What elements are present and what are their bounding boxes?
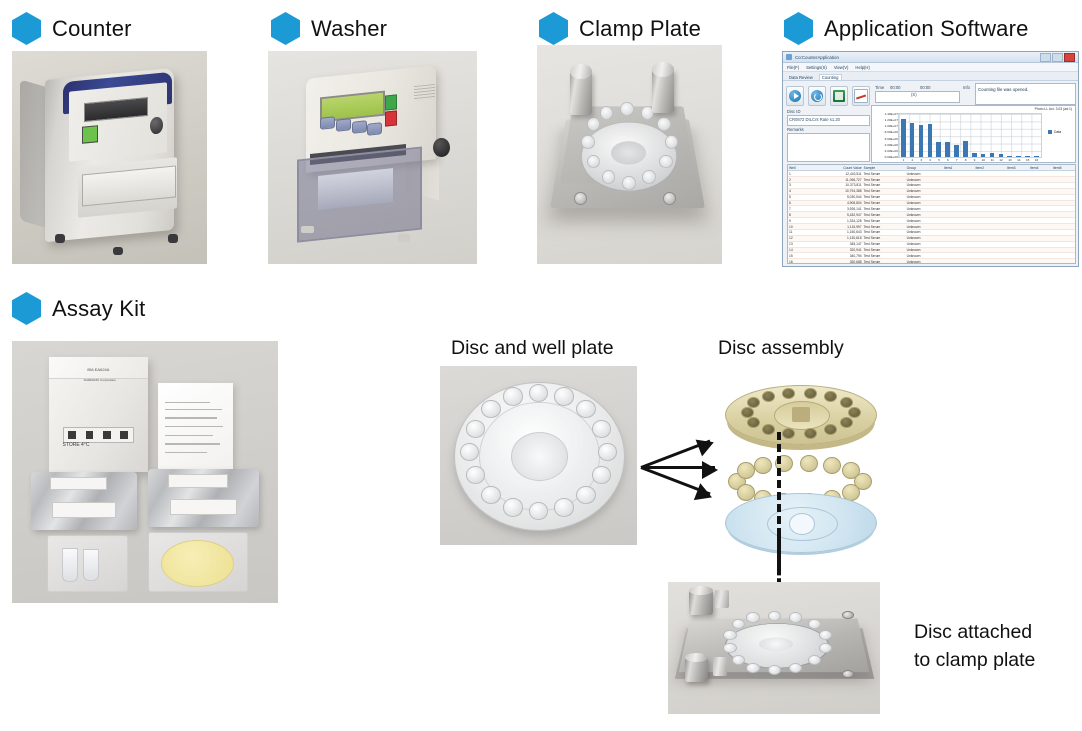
table-cell	[975, 189, 1007, 194]
table-cell	[943, 195, 975, 200]
table-cell: Test Serum	[863, 236, 906, 241]
table-cell	[943, 253, 975, 258]
well	[732, 655, 745, 665]
chart-bar	[910, 123, 915, 157]
remarks-input[interactable]	[787, 133, 870, 162]
table-cell	[1052, 253, 1075, 258]
table-cell: 14	[788, 248, 814, 253]
glass-icon	[86, 431, 94, 439]
well	[746, 663, 759, 673]
counter-photo	[12, 51, 207, 264]
table-cell: Unknown	[906, 230, 943, 235]
column-header[interactable]: Count Value	[814, 165, 863, 170]
table-cell: 340,794	[814, 253, 863, 258]
assembly-well-cell	[737, 484, 755, 501]
chart-bar	[901, 119, 906, 157]
table-cell: Unknown	[906, 212, 943, 217]
chart-y-tick: 1.20E+07	[885, 118, 898, 122]
chart-bar	[981, 154, 986, 157]
clamp-plate-well	[602, 170, 615, 184]
table-cell: Test Serum	[863, 195, 906, 200]
washer-keypad-button[interactable]	[352, 121, 367, 134]
clamp-plate-knob[interactable]	[689, 590, 712, 615]
kit-sample-tube	[83, 549, 99, 581]
chart-bar	[936, 142, 941, 157]
play-icon	[789, 90, 801, 102]
table-cell	[1052, 201, 1075, 206]
assembly-well-dot	[804, 388, 817, 399]
counting-chart: Photo LL Act. 3.03 (ad:1) 12345678910111…	[871, 105, 1076, 163]
caption-disc-attached-line2: to clamp plate	[914, 648, 1035, 672]
table-cell	[1052, 242, 1075, 247]
chart-x-tick: 8	[965, 158, 967, 162]
chart-bar	[919, 125, 924, 157]
assembly-well-dot	[782, 388, 795, 399]
table-cell	[975, 259, 1007, 264]
kit-tube-bag	[47, 535, 129, 592]
table-cell: 7	[788, 206, 814, 211]
counter-foot	[113, 247, 123, 256]
table-cell	[943, 177, 975, 182]
table-cell: 2	[788, 177, 814, 182]
table-cell: 1,130,618	[814, 236, 863, 241]
clamp-plate-photo	[537, 45, 722, 264]
chart-x-tick: 16	[1035, 158, 1038, 162]
table-cell	[1052, 248, 1075, 253]
well	[554, 498, 574, 516]
chart-x-tick: 13	[1008, 158, 1011, 162]
table-cell	[1052, 218, 1075, 223]
chart-y-tick: 1.00E+07	[885, 124, 898, 128]
app-icon	[786, 54, 792, 60]
time-value: 00:00	[890, 85, 900, 90]
table-cell	[1006, 177, 1029, 182]
chart-x-tick: 10	[982, 158, 985, 162]
well	[576, 486, 596, 504]
chart-x-tick: 6	[947, 158, 949, 162]
table-cell: Test Serum	[863, 212, 906, 217]
maximize-icon[interactable]	[1052, 53, 1063, 62]
chart-x-tick: 9	[974, 158, 976, 162]
table-cell	[975, 195, 1007, 200]
table-cell	[975, 230, 1007, 235]
table-cell	[1052, 212, 1075, 217]
assembly-base-disc	[725, 493, 877, 553]
table-cell: 5,182,947	[814, 212, 863, 217]
table-cell: 3,926,141	[814, 206, 863, 211]
table-cell: 10,794,388	[814, 189, 863, 194]
table-cell	[1006, 230, 1029, 235]
chart-x-tick: 14	[1017, 158, 1020, 162]
table-cell: 15	[788, 253, 814, 258]
application-software-window[interactable]: CcrCounterApplication File(F) Settings(S…	[782, 51, 1079, 267]
chart-bar	[990, 153, 995, 157]
app-toolbar[interactable]	[786, 83, 870, 109]
close-icon[interactable]	[1064, 53, 1075, 62]
table-cell: Unknown	[906, 242, 943, 247]
well	[481, 486, 501, 504]
assembly-well-dot	[747, 397, 760, 408]
chart-bar	[945, 142, 950, 157]
washer-start-button[interactable]	[385, 94, 397, 110]
clamp-plate-post	[713, 657, 728, 675]
menu-item-view[interactable]: View(V)	[834, 65, 849, 70]
start-button[interactable]	[786, 86, 804, 106]
table-cell: 4,908,804	[814, 201, 863, 206]
legend-swatch	[1048, 130, 1052, 134]
count-unit-label: (S)	[911, 92, 917, 97]
column-header[interactable]: Well	[788, 165, 814, 170]
kit-disc-bag	[148, 532, 248, 592]
time-label: Time	[875, 85, 884, 90]
column-header[interactable]: Item1	[943, 165, 975, 170]
app-window-title: CcrCounterApplication	[795, 55, 839, 60]
well	[723, 643, 736, 653]
well	[789, 663, 802, 673]
table-cell	[943, 242, 975, 247]
clamp-plate-well	[659, 155, 672, 169]
clamp-plate-well	[622, 176, 635, 190]
table-cell	[1029, 189, 1052, 194]
table-cell: Test Serum	[863, 253, 906, 258]
table-cell: 320,941	[814, 248, 863, 253]
disc-and-well-plate-photo	[440, 366, 637, 545]
section-label-application-software: Application Software	[824, 16, 1029, 42]
table-cell	[1006, 171, 1029, 176]
table-cell: Unknown	[906, 201, 943, 206]
washer-side-dial[interactable]	[433, 138, 450, 157]
table-cell: 11	[788, 230, 814, 235]
table-cell	[943, 212, 975, 217]
chart-x-tick: 2	[911, 158, 913, 162]
washer-foot	[398, 234, 411, 241]
info-message-text: Counting file was opened.	[978, 87, 1029, 92]
table-cell: Unknown	[906, 218, 943, 223]
clamp-plate-hub	[610, 141, 646, 164]
kit-sample-tube	[62, 548, 78, 582]
table-cell	[1006, 224, 1029, 229]
assembly-well-cell	[800, 455, 818, 472]
section-label-washer: Washer	[311, 16, 387, 42]
up-arrow-icon	[120, 431, 128, 439]
chart-x-tick: 5	[938, 158, 940, 162]
washer-keypad-button[interactable]	[320, 116, 335, 129]
assay-kit-photo: BM-EA624A SHIMADZU Corporation STORE 4°C	[12, 341, 278, 603]
assembly-well-dot	[762, 391, 775, 402]
table-cell	[1029, 218, 1052, 223]
table-cell: 4	[788, 189, 814, 194]
clamp-plate-well	[665, 135, 678, 149]
assembly-well-dot	[840, 397, 853, 408]
table-cell	[1052, 224, 1075, 229]
table-cell	[975, 248, 1007, 253]
assembly-arrow-bottom	[640, 466, 710, 495]
window-controls[interactable]	[1040, 53, 1075, 62]
table-cell	[975, 201, 1007, 206]
table-cell: 345,147	[814, 242, 863, 247]
table-cell	[943, 201, 975, 206]
table-cell	[943, 259, 975, 264]
chart-button[interactable]	[852, 86, 870, 106]
chart-bar	[954, 145, 959, 157]
chart-y-tick: 6.00E+06	[885, 137, 898, 141]
table-cell	[975, 212, 1007, 217]
chart-x-tick: 3	[920, 158, 922, 162]
chart-bar	[999, 154, 1004, 157]
table-cell	[1029, 171, 1052, 176]
kit-instruction-sheet	[158, 383, 232, 469]
table-cell: Unknown	[906, 259, 943, 264]
clamp-plate-well	[642, 170, 655, 184]
tab-counting[interactable]: Counting	[819, 74, 842, 80]
results-table[interactable]: WellCount ValueSampleGroupItem1Item2Item…	[787, 164, 1076, 264]
table-cell	[1006, 201, 1029, 206]
remarks-label: Remarks	[787, 127, 804, 132]
washer-stop-button[interactable]	[385, 110, 397, 126]
table-cell: Unknown	[906, 253, 943, 258]
hexagon-bullet-icon	[271, 12, 300, 45]
table-cell	[1006, 259, 1029, 264]
table-cell: 1,150,643	[814, 230, 863, 235]
export-excel-button[interactable]	[830, 86, 848, 106]
info-label: Info	[963, 85, 970, 90]
table-cell	[943, 183, 975, 188]
table-cell	[943, 218, 975, 223]
page-root: Counter Washer Clamp Plate Application S…	[0, 0, 1082, 731]
section-header-counter: Counter	[12, 12, 132, 45]
column-header[interactable]: Item5	[1052, 165, 1075, 170]
table-cell: Unknown	[906, 224, 943, 229]
washer-keypad-button[interactable]	[336, 118, 351, 131]
table-cell	[943, 230, 975, 235]
table-cell	[943, 189, 975, 194]
table-cell	[1029, 259, 1052, 264]
kit-reagent-pouch	[31, 472, 137, 530]
table-cell	[1006, 236, 1029, 241]
section-header-assay-kit: Assay Kit	[12, 292, 146, 325]
table-cell	[1006, 183, 1029, 188]
assembly-well-cell	[823, 457, 841, 474]
hexagon-bullet-icon	[12, 292, 41, 325]
hexagon-bullet-icon	[12, 12, 41, 45]
assembly-arrow-top	[640, 440, 710, 469]
table-cell	[1052, 177, 1075, 182]
hexagon-bullet-icon	[784, 12, 813, 45]
assembly-well-dot	[747, 417, 760, 428]
menu-item-settings[interactable]: Settings(S)	[806, 65, 827, 70]
chart-bar	[972, 153, 977, 157]
table-cell: 8	[788, 212, 814, 217]
pouch-contents-label	[170, 499, 237, 515]
section-label-counter: Counter	[52, 16, 132, 42]
assembly-well-dot	[741, 407, 754, 418]
chart-corner-label: Photo LL Act. 3.03 (ad:1)	[1035, 107, 1072, 111]
chart-x-tick: 15	[1026, 158, 1029, 162]
table-cell: 10	[788, 224, 814, 229]
section-header-clamp-plate: Clamp Plate	[539, 12, 701, 45]
table-cell: 1,115,997	[814, 224, 863, 229]
count-time-input[interactable]	[875, 91, 960, 103]
table-cell: Test Serum	[863, 189, 906, 194]
clamp-plate-post	[715, 590, 730, 608]
well	[576, 400, 596, 418]
table-row[interactable]: 16330,688Test SerumUnknown	[788, 259, 1075, 264]
clamp-plate-knob[interactable]	[685, 657, 708, 682]
thermometer-icon	[103, 431, 111, 439]
table-cell	[1052, 189, 1075, 194]
kit-handling-icons	[63, 427, 134, 442]
disc-id-label: Disc ID	[787, 109, 801, 114]
table-cell: Test Serum	[863, 171, 906, 176]
table-cell	[1029, 230, 1052, 235]
tab-data-review[interactable]: Data Review	[787, 75, 815, 80]
table-cell: 5	[788, 195, 814, 200]
table-cell	[975, 253, 1007, 258]
kit-box-label: BM-EA624A	[65, 367, 132, 372]
table-cell: 3	[788, 183, 814, 188]
clamp-plate-well	[620, 102, 633, 116]
column-header[interactable]: Sample	[863, 165, 906, 170]
table-cell	[943, 206, 975, 211]
table-cell	[1029, 236, 1052, 241]
chart-bar	[963, 141, 968, 157]
column-header[interactable]: Group	[906, 165, 943, 170]
table-cell	[1006, 248, 1029, 253]
caption-disc-assembly: Disc assembly	[718, 336, 844, 360]
clamp-plate-well	[657, 117, 670, 131]
chart-y-tick: 2.00E+06	[885, 149, 898, 153]
section-header-application-software: Application Software	[784, 12, 1029, 45]
app-titlebar: CcrCounterApplication	[783, 52, 1078, 63]
table-cell: Unknown	[906, 177, 943, 182]
table-cell: Test Serum	[863, 230, 906, 235]
clamp-plate-knob[interactable]	[570, 71, 592, 115]
pouch-brand-label	[50, 477, 107, 491]
table-cell	[1029, 224, 1052, 229]
table-cell: 6	[788, 201, 814, 206]
chart-x-tick: 7	[956, 158, 958, 162]
well	[503, 387, 523, 405]
table-cell: Test Serum	[863, 224, 906, 229]
kit-yellow-disc	[161, 540, 234, 587]
clamp-plate-screw	[574, 192, 587, 205]
app-tabstrip[interactable]: Data Review Counting	[783, 72, 1078, 81]
chart-y-tick: 4.00E+06	[885, 143, 898, 147]
table-cell: 11,056,727	[814, 177, 863, 182]
well	[529, 384, 549, 402]
menu-item-help[interactable]: Help(H)	[855, 65, 869, 70]
kit-reagent-pouch	[148, 469, 260, 527]
chart-x-tick: 1	[903, 158, 905, 162]
table-cell	[1029, 206, 1052, 211]
umbrella-icon	[68, 431, 76, 439]
assembly-well-dot	[824, 424, 837, 435]
well-plate-hub	[511, 432, 568, 481]
legend-label: Data	[1054, 130, 1061, 134]
well	[819, 643, 832, 653]
table-cell	[943, 236, 975, 241]
disc-id-value: CR0872 DILCnt Rate s1.20	[789, 117, 840, 122]
column-header[interactable]: Item4	[1029, 165, 1052, 170]
washer-keypad-button[interactable]	[367, 123, 382, 136]
clamp-plate-screw	[663, 192, 676, 205]
counter-status-led	[82, 125, 98, 143]
table-cell	[975, 177, 1007, 182]
table-cell	[1052, 206, 1075, 211]
table-cell: 16	[788, 259, 814, 264]
table-cell	[943, 248, 975, 253]
table-cell: 1,334,128	[814, 218, 863, 223]
table-cell	[1052, 259, 1075, 264]
table-cell	[975, 206, 1007, 211]
well	[503, 498, 523, 516]
well	[592, 420, 612, 438]
table-cell: 330,688	[814, 259, 863, 264]
assembly-well-dot	[840, 417, 853, 428]
table-cell	[1006, 212, 1029, 217]
assembly-disc-center-hole	[789, 513, 815, 535]
table-cell	[975, 183, 1007, 188]
table-cell: Test Serum	[863, 259, 906, 264]
column-header[interactable]: Item2	[975, 165, 1007, 170]
washer-vent-grill	[414, 84, 435, 101]
table-cell: Test Serum	[863, 201, 906, 206]
excel-icon	[833, 90, 845, 102]
well	[554, 387, 574, 405]
table-cell	[943, 171, 975, 176]
chart-x-tick: 4	[929, 158, 931, 162]
table-cell: Test Serum	[863, 206, 906, 211]
caption-disc-and-well-plate: Disc and well plate	[451, 336, 614, 360]
app-menubar[interactable]: File(F) Settings(S) View(V) Help(H)	[783, 63, 1078, 72]
table-cell	[1052, 183, 1075, 188]
washer-photo	[268, 51, 477, 264]
well	[819, 630, 832, 640]
column-header[interactable]: Item3	[1006, 165, 1029, 170]
table-cell	[1006, 253, 1029, 258]
section-label-assay-kit: Assay Kit	[52, 296, 146, 322]
kit-storage-label: STORE 4°C	[63, 442, 122, 448]
well	[746, 612, 759, 622]
table-cell: Unknown	[906, 248, 943, 253]
table-cell: 13	[788, 242, 814, 247]
table-cell	[1029, 201, 1052, 206]
clamp-plate-knob[interactable]	[652, 69, 674, 113]
chart-legend: Data	[1048, 130, 1061, 134]
chart-y-tick: 8.00E+06	[885, 130, 898, 134]
table-cell	[1029, 183, 1052, 188]
table-cell: 12	[788, 236, 814, 241]
table-cell: Unknown	[906, 189, 943, 194]
table-cell	[1029, 212, 1052, 217]
table-cell	[975, 236, 1007, 241]
assembly-top-ring-keyhole	[792, 407, 810, 422]
assembly-top-ring-plate	[725, 385, 877, 445]
table-cell	[975, 218, 1007, 223]
well	[466, 420, 486, 438]
reset-button[interactable]	[808, 86, 826, 106]
table-cell	[1052, 195, 1075, 200]
assembly-well-dot	[848, 407, 861, 418]
table-cell	[1006, 195, 1029, 200]
minimize-icon[interactable]	[1040, 53, 1051, 62]
table-cell: 12,442,511	[814, 171, 863, 176]
table-cell: Test Serum	[863, 248, 906, 253]
menu-item-file[interactable]: File(F)	[787, 65, 799, 70]
table-cell	[975, 242, 1007, 247]
pouch-contents-label	[52, 502, 116, 518]
section-label-clamp-plate: Clamp Plate	[579, 16, 701, 42]
